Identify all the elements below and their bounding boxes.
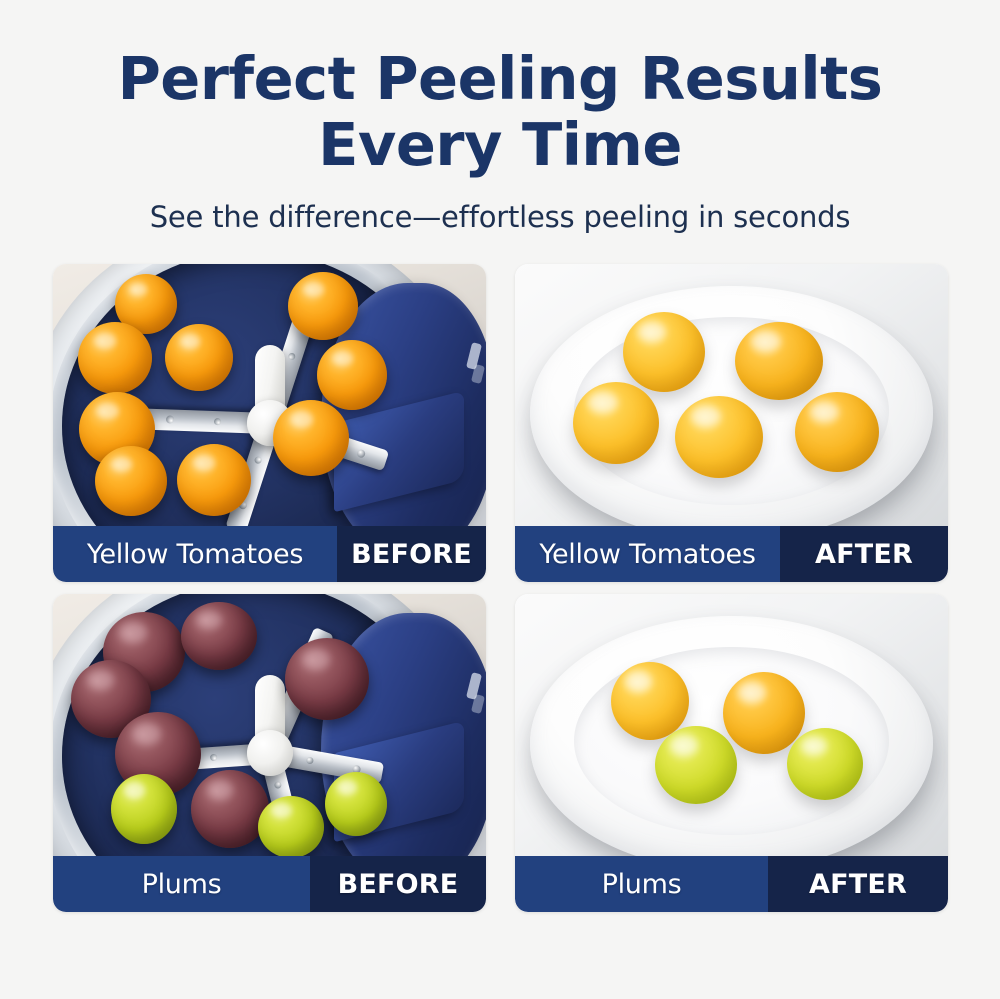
peeled-tomato [795, 392, 879, 472]
card-label-state: AFTER [780, 526, 948, 582]
card-label-name: Plums [515, 856, 768, 912]
card-label-state: BEFORE [310, 856, 486, 912]
peeled-plum [611, 662, 689, 740]
fruit-tomato [165, 324, 233, 391]
fruit-plum [181, 602, 257, 670]
comparison-card-plums-before[interactable]: Plums BEFORE [53, 594, 486, 912]
fruit-tomato [317, 340, 387, 410]
card-label-name: Yellow Tomatoes [53, 526, 337, 582]
comparison-card-plums-after[interactable]: Plums AFTER [515, 594, 948, 912]
peeled-tomato [675, 396, 763, 478]
comparison-card-yellow-tomatoes-after[interactable]: Yellow Tomatoes AFTER [515, 264, 948, 582]
fruit-green-plum [325, 772, 387, 836]
fruit-tomato [95, 446, 167, 516]
peeled-plum [787, 728, 863, 800]
page-title-line-1: Perfect Peeling Results [118, 44, 883, 113]
peeled-tomato [623, 312, 705, 392]
peeler-hub [247, 730, 293, 776]
page-title-line-2: Every Time [0, 112, 1000, 178]
card-label-bar: Plums AFTER [515, 856, 948, 912]
fruit-green-plum [111, 774, 177, 844]
page-title: Perfect Peeling Results Every Time [0, 0, 1000, 178]
comparison-grid: Yellow Tomatoes BEFORE [53, 264, 948, 912]
card-label-state: BEFORE [337, 526, 486, 582]
comparison-card-yellow-tomatoes-before[interactable]: Yellow Tomatoes BEFORE [53, 264, 486, 582]
fruit-plum [285, 638, 369, 720]
fruit-tomato [177, 444, 251, 516]
promo-page: Perfect Peeling Results Every Time See t… [0, 0, 1000, 999]
white-plate [530, 616, 933, 870]
card-label-bar: Plums BEFORE [53, 856, 486, 912]
card-label-name: Plums [53, 856, 310, 912]
card-label-name: Yellow Tomatoes [515, 526, 780, 582]
card-label-state: AFTER [768, 856, 948, 912]
peeled-plum [723, 672, 805, 754]
card-label-bar: Yellow Tomatoes AFTER [515, 526, 948, 582]
header: Perfect Peeling Results Every Time See t… [0, 0, 1000, 234]
peeled-tomato [573, 382, 659, 464]
fruit-tomato [288, 272, 358, 340]
fruit-tomato [273, 400, 349, 476]
peeled-tomato [735, 322, 823, 400]
page-subtitle: See the difference—effortless peeling in… [0, 178, 1000, 234]
peeled-plum [655, 726, 737, 804]
fruit-tomato [78, 322, 152, 394]
fruit-green-plum [258, 796, 324, 858]
card-label-bar: Yellow Tomatoes BEFORE [53, 526, 486, 582]
fruit-plum [191, 770, 269, 848]
